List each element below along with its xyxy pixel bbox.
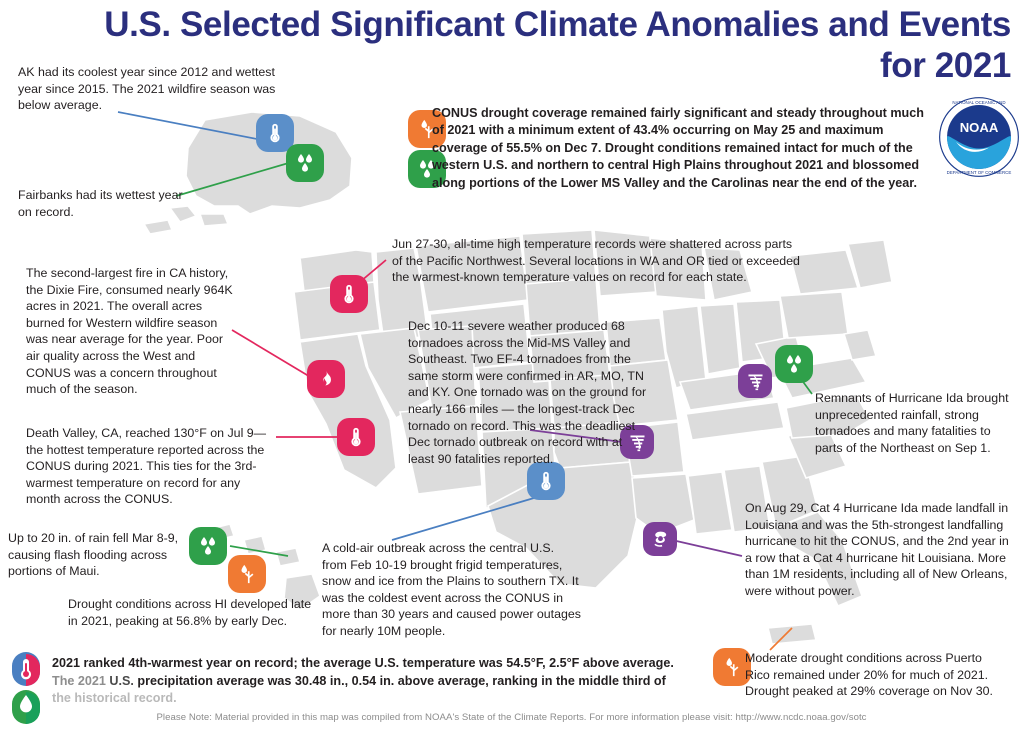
svg-text:DEPARTMENT OF COMMERCE: DEPARTMENT OF COMMERCE [947,170,1012,175]
svg-text:NOAA: NOAA [960,120,999,135]
callout-hawaii-drought: Drought conditions across HI developed l… [68,596,314,629]
callout-california-dixie-fire: The second-largest fire in CA history, t… [26,265,238,398]
drought-glyph [721,656,743,678]
state-pennsylvania [780,292,848,338]
summary-line-2-part-1: The 2021 [52,674,106,688]
noaa-logo: NOAA NATIONAL OCEANIC AND DEPARTMENT OF … [938,96,1020,178]
thermometer-icon[interactable] [527,462,565,500]
drought-glyph [236,563,258,585]
tornado-glyph [745,371,766,392]
summary-line-2: The 2021 U.S. precipitation average was … [52,673,682,691]
thermometer-icon[interactable] [337,418,375,456]
fire-icon[interactable] [307,360,345,398]
callout-ida-louisiana-landfall: On Aug 29, Cat 4 Hurricane Ida made land… [745,500,1017,600]
thermometer-glyph [338,283,360,305]
callout-february-cold-outbreak: A cold-air outbreak across the central U… [322,540,582,640]
drought-icon[interactable] [228,555,266,593]
state-hawaii-oahu [244,536,266,554]
thermometer-glyph [264,122,286,144]
raindrops-glyph [782,352,806,376]
state-mid-atlantic [844,330,876,360]
summary-line-2-part-2: U.S. [109,674,134,688]
title-line-1: U.S. Selected Significant Climate Anomal… [11,4,1011,46]
hurricane-glyph [650,529,671,550]
footnote: Please Note: Material provided in this m… [0,712,1023,723]
callout-fairbanks-precip: Fairbanks had its wettest year on record… [18,187,188,220]
callout-alaska-temp: AK had its coolest year since 2012 and w… [18,64,276,114]
thermometer-glyph [535,470,557,492]
thermometer-icon[interactable] [330,275,368,313]
raindrops-icon[interactable] [189,527,227,565]
svg-text:NATIONAL OCEANIC AND: NATIONAL OCEANIC AND [952,100,1005,105]
raindrops-glyph [293,151,317,175]
state-indiana [700,304,740,374]
callout-december-tornado-outbreak: Dec 10-11 severe weather produced 68 tor… [408,318,648,467]
thermometer-glyph [345,426,367,448]
callout-death-valley-heat: Death Valley, CA, reached 130°F on Jul 9… [26,425,278,508]
thermometer-icon[interactable] [256,114,294,152]
raindrops-icon[interactable] [775,345,813,383]
fire-glyph [315,368,337,390]
callout-pacific-northwest-heat: Jun 27-30, all-time high temperature rec… [392,236,802,286]
callout-puerto-rico-drought: Moderate drought conditions across Puert… [745,650,993,700]
hurricane-icon[interactable] [643,522,677,556]
summary-block: 2021 ranked 4th-warmest year on record; … [52,655,682,708]
tornado-icon[interactable] [738,364,772,398]
state-hawaii-maui [276,548,300,566]
summary-line-3: the historical record. [52,690,682,708]
summary-line-1: 2021 ranked 4th-warmest year on record; … [52,655,682,673]
temperature-legend-icon [12,652,40,686]
raindrops-icon[interactable] [286,144,324,182]
raindrops-glyph [196,534,220,558]
callout-ida-northeast: Remnants of Hurricane Ida brought unprec… [815,390,1020,456]
callout-conus-drought: CONUS drought coverage remained fairly s… [432,105,924,192]
callout-maui-rain: Up to 20 in. of rain fell Mar 8-9, causi… [8,530,183,580]
summary-line-2-part-3: precipitation average was 30.48 in., 0.5… [137,674,665,688]
territory-puerto-rico [768,624,816,644]
